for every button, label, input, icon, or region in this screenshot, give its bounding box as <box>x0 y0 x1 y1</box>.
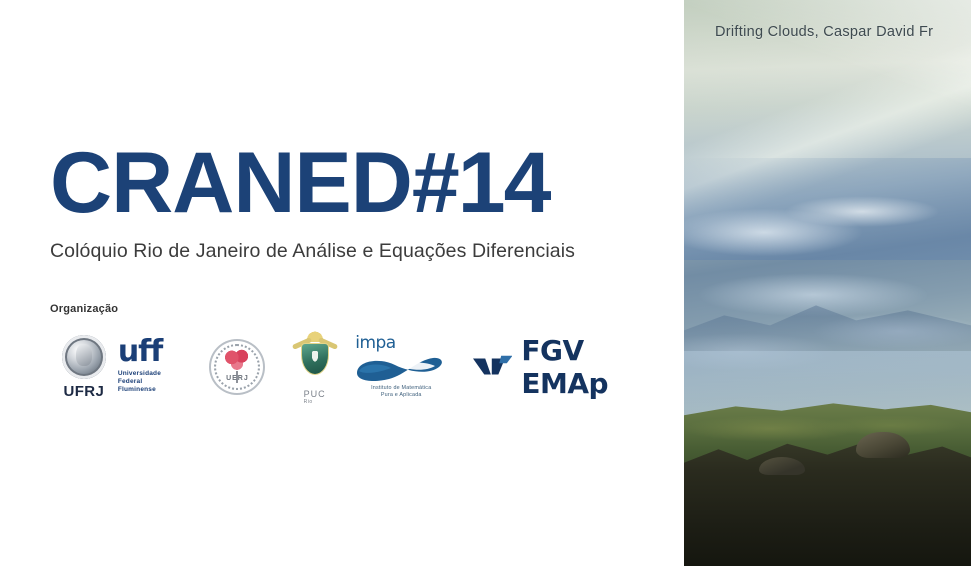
impa-infinity-icon <box>353 353 449 383</box>
ufrj-seal-icon <box>62 335 106 379</box>
uerj-wordmark: UERJ <box>209 375 265 382</box>
logo-fgv-emap[interactable]: FGV EMAp <box>473 334 670 400</box>
artwork-image: Drifting Clouds, Caspar David Fr <box>684 0 971 566</box>
fgv-wordmark: FGV EMAp <box>521 334 670 400</box>
fgv-chevron-icon <box>473 355 512 379</box>
logo-uerj[interactable]: UERJ <box>199 339 276 395</box>
title-block: CRANED#14 Colóquio Rio de Janeiro de Aná… <box>50 140 670 263</box>
puc-wordmark: PUCRio <box>304 389 326 405</box>
organizers-section: Organização UFRJ uff UniversidadeFederal… <box>50 303 670 405</box>
event-title-edition: #14 <box>412 135 550 231</box>
logo-puc-rio[interactable]: PUCRio <box>276 330 353 405</box>
organizer-logo-row: UFRJ uff UniversidadeFederalFluminense U… <box>50 329 670 405</box>
impa-wordmark: impa <box>355 335 396 352</box>
banner-left-panel: CRANED#14 Colóquio Rio de Janeiro de Aná… <box>0 0 684 566</box>
uff-wordmark: uff <box>118 340 162 365</box>
event-title-word: CRANED <box>50 135 412 231</box>
artwork-caption: Drifting Clouds, Caspar David Fr <box>715 24 933 40</box>
event-subtitle: Colóquio Rio de Janeiro de Análise e Equ… <box>50 240 670 263</box>
logo-ufrj[interactable]: UFRJ <box>50 335 118 400</box>
organizers-label: Organização <box>50 303 670 315</box>
puc-crest-icon <box>289 330 341 386</box>
artwork-boulder-secondary <box>759 457 805 475</box>
impa-subtitle: Instituto de MatemáticaPura e Aplicada <box>353 385 449 400</box>
logo-uff[interactable]: uff UniversidadeFederalFluminense <box>118 340 199 394</box>
uff-subtitle: UniversidadeFederalFluminense <box>118 370 161 394</box>
uerj-seal-icon: UERJ <box>209 339 265 395</box>
page-title: CRANED#14 <box>50 140 670 226</box>
artwork-boulder <box>856 432 910 458</box>
ufrj-wordmark: UFRJ <box>64 383 105 400</box>
craned-event-banner: CRANED#14 Colóquio Rio de Janeiro de Aná… <box>0 0 971 566</box>
logo-impa[interactable]: impa Instituto de MatemáticaPura e Aplic… <box>353 335 455 400</box>
